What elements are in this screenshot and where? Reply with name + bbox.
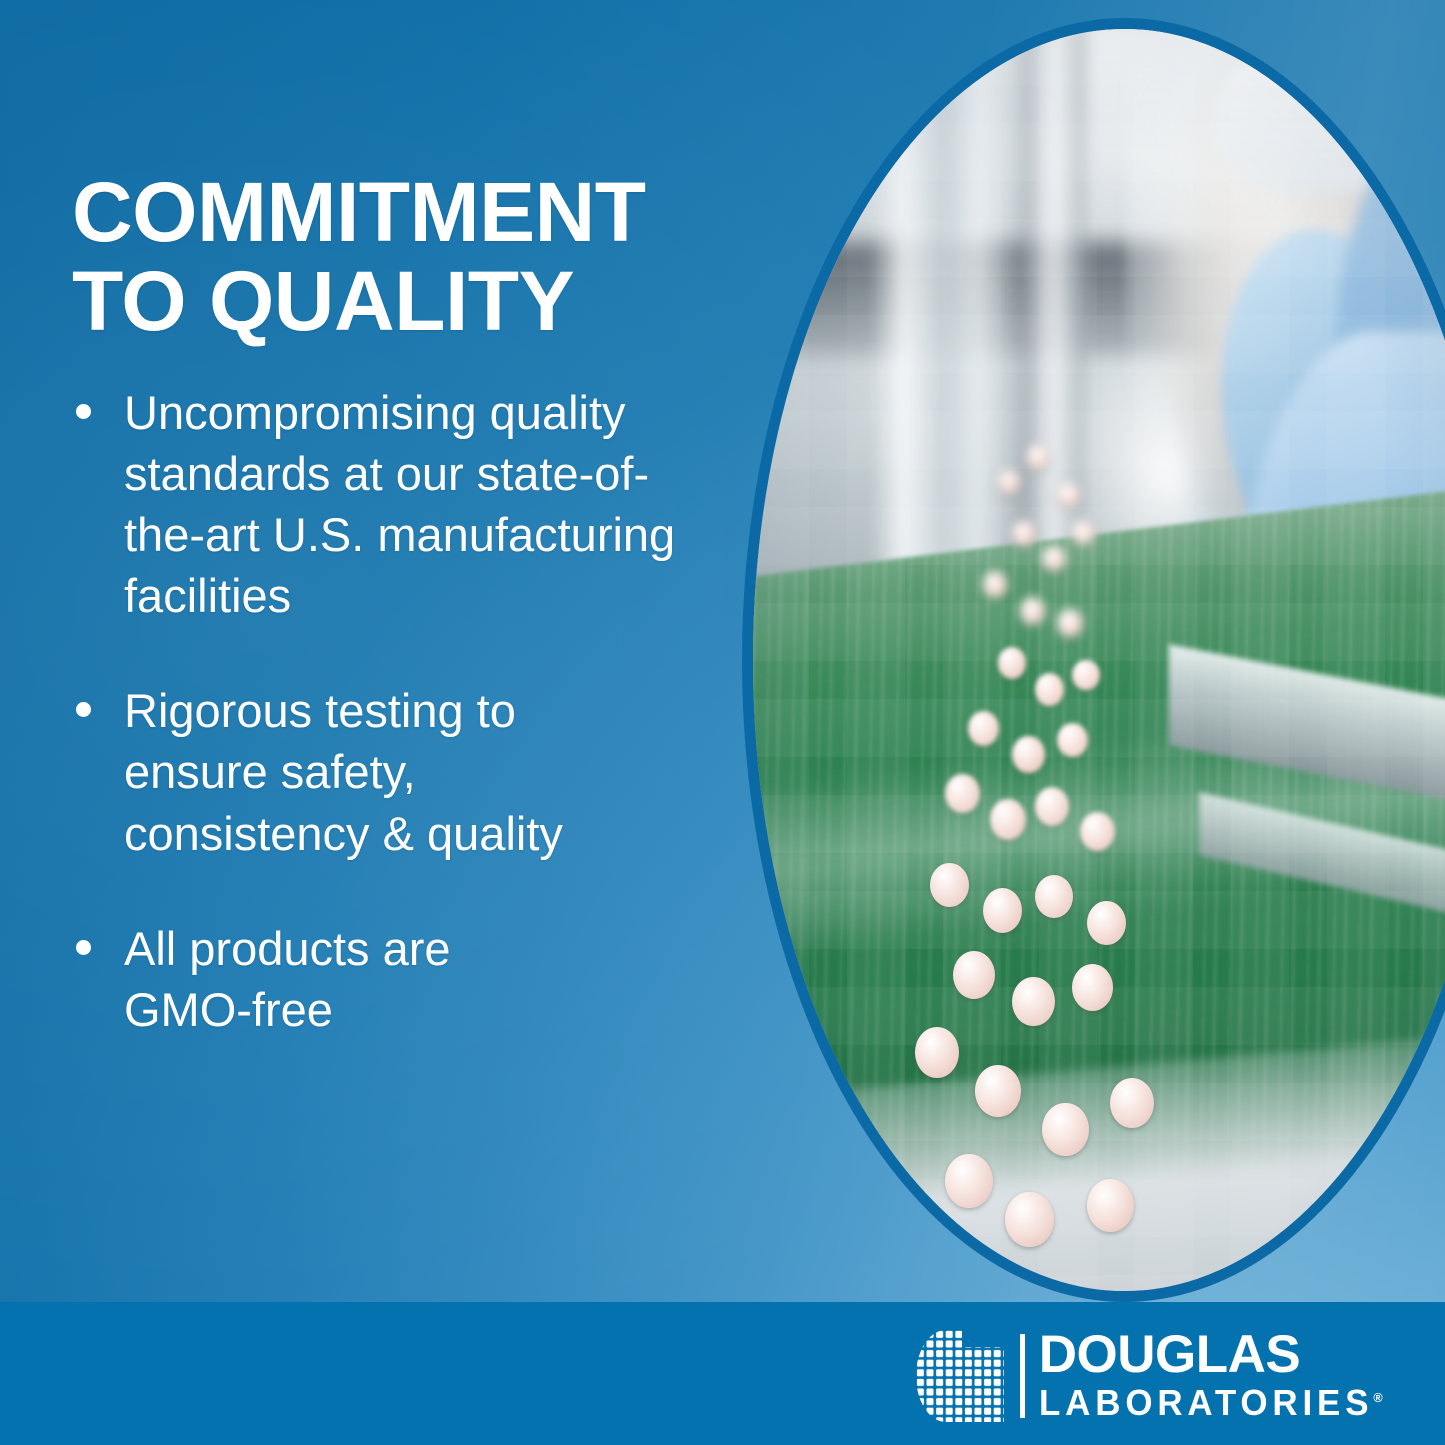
photo-circle-mask [753, 29, 1445, 1291]
brand-logo: DOUGLAS LABORATORIES® [916, 1330, 1393, 1422]
quality-commitment-graphic: COMMITMENT TO QUALITY Uncompromising qua… [0, 0, 1445, 1445]
list-item-label: Rigorous testing to ensure safety, consi… [124, 680, 594, 863]
logo-brand-secondary-text: LABORATORIES [1039, 1382, 1373, 1423]
douglas-grid-c-icon [916, 1330, 1004, 1422]
registered-trademark-icon: ® [1373, 1390, 1382, 1405]
logo-brand-primary: DOUGLAS [1039, 1330, 1393, 1381]
page-title-line-1: COMMITMENT [72, 165, 646, 259]
logo-brand-secondary: LABORATORIES® [1039, 1385, 1383, 1422]
photo-edge-shading [753, 29, 1445, 1291]
footer-bar: DOUGLAS LABORATORIES® [0, 1302, 1445, 1445]
list-item: Uncompromising quality standards at our … [68, 382, 740, 626]
logo-divider [1020, 1334, 1025, 1418]
list-item: All products are GMO-free [68, 918, 740, 1040]
bullet-dot-icon [76, 702, 91, 717]
bullet-dot-icon [76, 940, 91, 955]
benefits-list: Uncompromising quality standards at our … [68, 382, 740, 1040]
list-item-label: All products are GMO-free [124, 918, 544, 1040]
photo-circle-ring [742, 18, 1445, 1302]
list-item: Rigorous testing to ensure safety, consi… [68, 680, 740, 863]
logo-wordmark: DOUGLAS LABORATORIES® [1039, 1330, 1393, 1422]
page-title: COMMITMENT TO QUALITY [72, 168, 732, 346]
bullet-dot-icon [76, 404, 91, 419]
list-item-label: Uncompromising quality standards at our … [124, 382, 724, 626]
manufacturing-photo [753, 29, 1445, 1291]
page-title-line-2: TO QUALITY [72, 257, 732, 346]
